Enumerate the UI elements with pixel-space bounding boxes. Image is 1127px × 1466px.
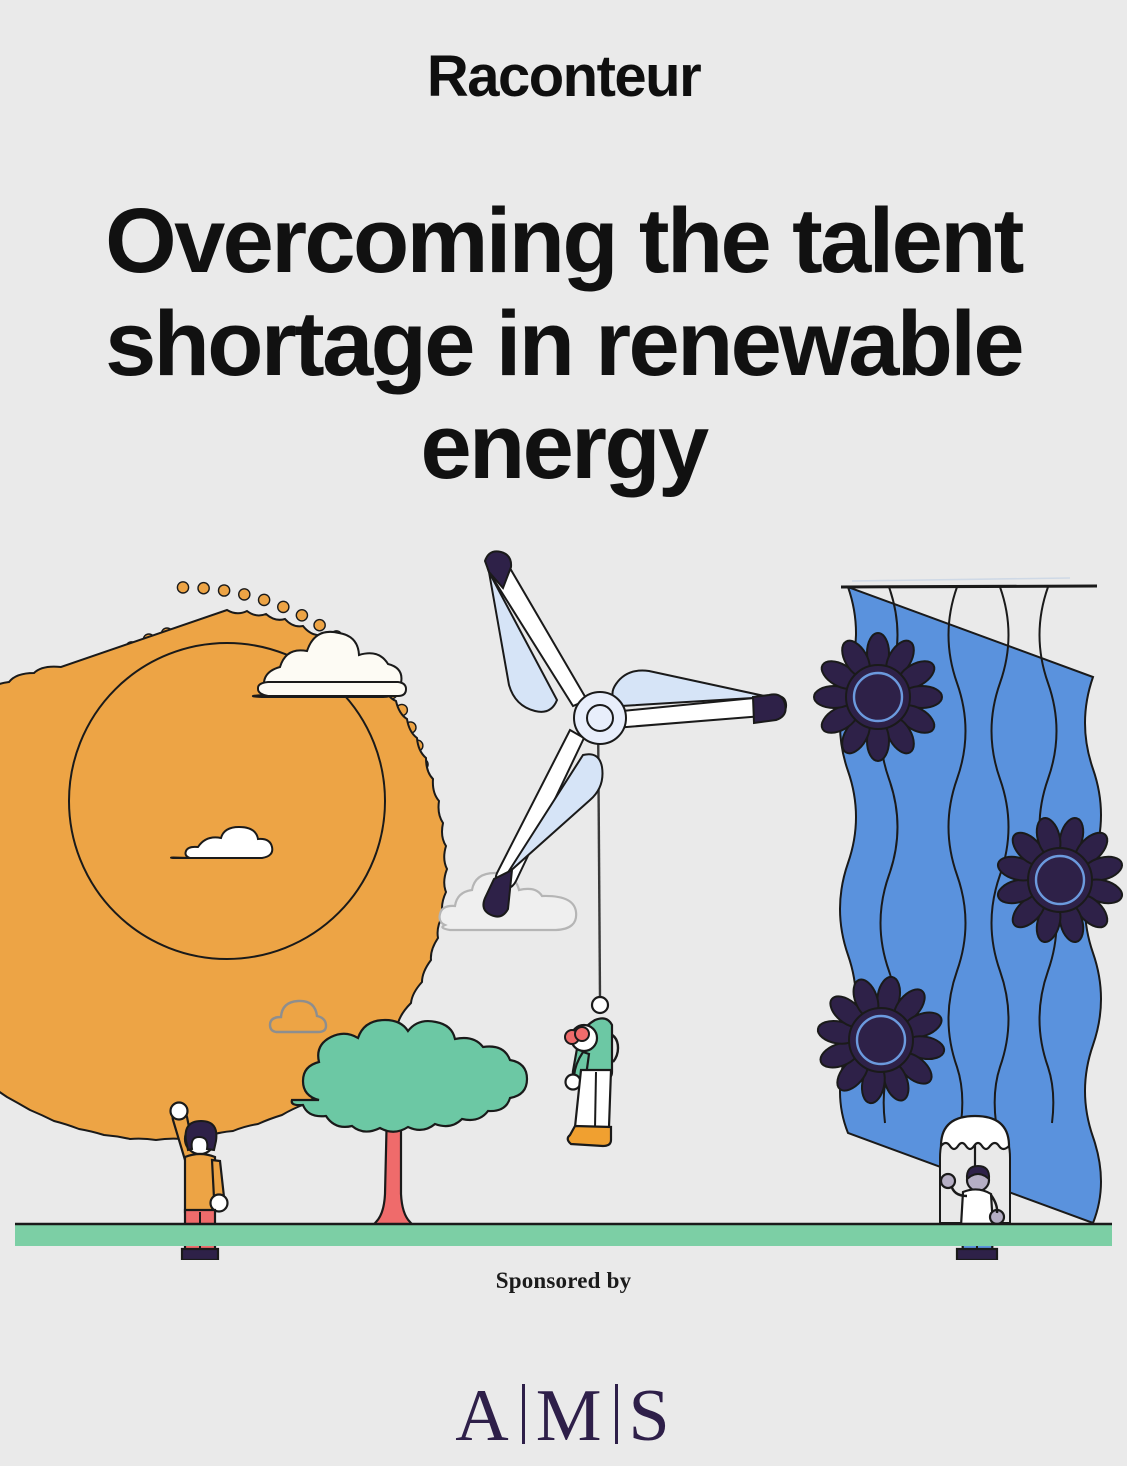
ground (15, 1224, 1112, 1246)
ams-sponsor-logo[interactable]: AMS (0, 1372, 1127, 1453)
turbine-blade-tip-2 (753, 694, 786, 723)
ground-band (15, 1225, 1112, 1246)
hydro-waterfall (814, 586, 1125, 1260)
turbine-hub-inner (587, 705, 613, 731)
technician-shoes (568, 1126, 611, 1146)
water-turbine-2 (995, 815, 1124, 944)
turbine-rope (598, 708, 600, 998)
waving-person-arm-down (212, 1160, 224, 1198)
faint-horizon-line (852, 578, 1070, 581)
turbine-blade-right (612, 671, 786, 728)
title-line-1: Overcoming the talent (105, 190, 1022, 292)
page-title: Overcoming the talent shortage in renewa… (20, 190, 1107, 499)
umbrella-canopy (941, 1116, 1009, 1149)
title-line-2: shortage in renewable (105, 293, 1022, 395)
raconteur-logo[interactable]: Raconteur (427, 48, 700, 106)
ams-divider-1 (522, 1384, 525, 1444)
title-heading: Overcoming the talent shortage in renewa… (20, 190, 1107, 499)
technician-hair-accent-2 (575, 1027, 589, 1041)
masthead: Raconteur (0, 48, 1127, 106)
technician-trousers (575, 1070, 611, 1129)
umbrella-person-hand-left (941, 1174, 955, 1188)
umbrella-person-shoes (957, 1249, 997, 1260)
waving-person-shoes (182, 1249, 218, 1260)
waving-person-hand-up (171, 1103, 188, 1120)
ams-letter-m: M (536, 1379, 604, 1453)
turbine-blade-lower-left (483, 730, 602, 917)
tree (292, 1020, 527, 1230)
technician-trouser-seam (595, 1072, 596, 1128)
ams-letter-a: A (455, 1379, 510, 1453)
abseiling-technician (565, 997, 618, 1146)
turbine-blade-upper-left (485, 551, 587, 711)
report-cover-page: Raconteur Overcoming the talent shortage… (0, 0, 1127, 1466)
sponsored-by-label: Sponsored by (0, 1268, 1127, 1294)
title-line-3: energy (420, 396, 706, 498)
cover-illustration (0, 540, 1127, 1260)
waterfall-top-edge (841, 586, 1097, 587)
cloud-large-on-sun-base (258, 682, 406, 696)
ams-letter-s: S (629, 1379, 672, 1453)
ams-divider-2 (615, 1384, 618, 1444)
technician-harness-ring (592, 997, 608, 1013)
